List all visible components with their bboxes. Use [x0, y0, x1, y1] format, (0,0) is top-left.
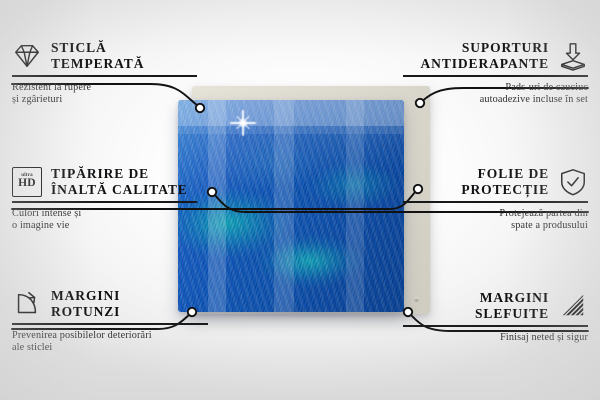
- feature-description: Rezistent la rupere și zgârieturi: [12, 82, 197, 107]
- pad-down-arrow-icon: [558, 41, 588, 71]
- feature-title: TIPĂRIRE DE ÎNALTĂ CALITATE: [51, 166, 188, 197]
- feature-header: MARGINI ROTUNZI: [12, 288, 208, 319]
- rounded-corner-icon: [12, 289, 42, 319]
- feature-title: FOLIE DE PROTECȚIE: [461, 166, 549, 197]
- feature-description: Culori intense și o imagine vie: [12, 208, 197, 233]
- feature-header: FOLIE DE PROTECȚIE: [403, 166, 588, 197]
- feature-divider: [403, 325, 588, 327]
- feature-divider: [403, 75, 588, 77]
- feature-divider: [403, 201, 588, 203]
- product-artwork: [178, 100, 404, 312]
- feature-folie-de-protectie: FOLIE DE PROTECȚIE Protejează partea din…: [403, 166, 588, 233]
- infographic-canvas: STICLĂ TEMPERATĂ Rezistent la rupere și …: [0, 0, 600, 400]
- feature-divider: [12, 323, 208, 325]
- shield-check-icon: [558, 167, 588, 197]
- feature-divider: [12, 201, 197, 203]
- feature-header: STICLĂ TEMPERATĂ: [12, 40, 197, 71]
- feature-margini-rotunzi: MARGINI ROTUNZI Prevenirea posibilelor d…: [12, 288, 208, 355]
- hatched-triangle-icon: [558, 291, 588, 321]
- feature-title: STICLĂ TEMPERATĂ: [51, 40, 144, 71]
- feature-description: Pads-uri de cauciuc autoadezive incluse …: [403, 82, 588, 107]
- feature-description: Protejează partea din spate a produsului: [403, 208, 588, 233]
- feature-header: MARGINI SLEFUITE: [403, 290, 588, 321]
- product-image: [178, 86, 430, 316]
- feature-header: SUPORTURI ANTIDERAPANTE: [403, 40, 588, 71]
- feature-margini-slefuite: MARGINI SLEFUITE Finisaj neted și sigur: [403, 290, 588, 344]
- feature-title: MARGINI ROTUNZI: [51, 288, 120, 319]
- feature-suporturi-antiderapante: SUPORTURI ANTIDERAPANTE Pads-uri de cauc…: [403, 40, 588, 107]
- feature-divider: [12, 75, 197, 77]
- feature-description: Finisaj neted și sigur: [403, 332, 588, 345]
- feature-title: MARGINI SLEFUITE: [475, 290, 549, 321]
- product-shadow: [186, 312, 430, 328]
- feature-header: ultra HD TIPĂRIRE DE ÎNALTĂ CALITATE: [12, 166, 197, 197]
- feature-sticla-temperata: STICLĂ TEMPERATĂ Rezistent la rupere și …: [12, 40, 197, 107]
- hd-badge-main-label: HD: [18, 178, 36, 190]
- feature-description: Prevenirea posibilelor deteriorări ale s…: [12, 330, 208, 355]
- ultra-hd-icon: ultra HD: [12, 167, 42, 197]
- feature-title: SUPORTURI ANTIDERAPANTE: [421, 40, 549, 71]
- diamond-icon: [12, 41, 42, 71]
- feature-tiparire-inalta-calitate: ultra HD TIPĂRIRE DE ÎNALTĂ CALITATE Cul…: [12, 166, 197, 233]
- product-glass-panel: [178, 100, 404, 312]
